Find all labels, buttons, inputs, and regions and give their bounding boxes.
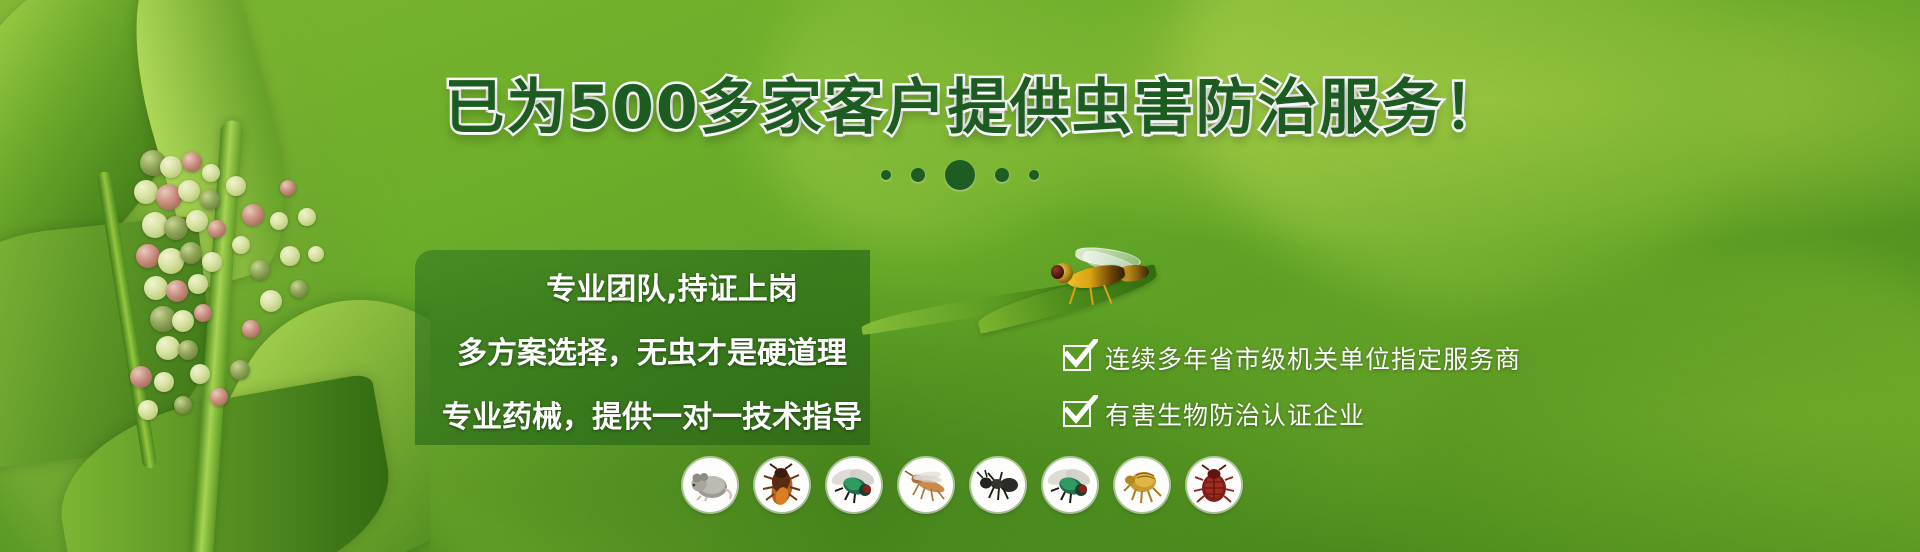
checklist-item: 有害生物防治认证企业	[1063, 386, 1521, 442]
bedbug-icon[interactable]	[1187, 458, 1241, 512]
decor-dot-medium	[995, 168, 1009, 182]
blowfly-icon[interactable]	[1043, 458, 1097, 512]
insect-leg	[1103, 285, 1112, 304]
ant-icon[interactable]	[971, 458, 1025, 512]
insect-leg	[1089, 285, 1094, 305]
feature-panel: 专业团队,持证上岗 多方案选择，无虫才是硬道理 专业药械，提供一对一技术指导	[415, 252, 895, 447]
flower-bud	[232, 236, 250, 254]
flower-bud	[136, 244, 160, 268]
flower-bud	[164, 216, 188, 240]
feature-line-3: 专业药械，提供一对一技术指导	[415, 392, 889, 436]
flower-bud	[130, 366, 152, 388]
flower-bud	[208, 220, 226, 238]
mosquito-icon[interactable]	[899, 458, 953, 512]
flower-bud	[200, 190, 220, 210]
flower-bud	[242, 320, 260, 338]
mouse-icon[interactable]	[683, 458, 737, 512]
checklist-item-label: 有害生物防治认证企业	[1105, 396, 1365, 432]
checkbox-tick-icon	[1063, 401, 1091, 427]
insect-leg	[1069, 285, 1077, 305]
fly-icon[interactable]	[827, 458, 881, 512]
flower-bud	[260, 290, 282, 312]
flower-bud	[138, 400, 158, 420]
pest-control-hero-banner: 已为500多家客户提供虫害防治服务！ 专业团队,持证上岗 多方案选择，无虫才是硬…	[0, 0, 1920, 552]
flower-bud	[308, 246, 324, 262]
decor-dot-small	[1029, 170, 1039, 180]
flower-bud	[270, 212, 288, 230]
flower-bud	[188, 274, 208, 294]
cockroach-icon[interactable]	[755, 458, 809, 512]
decor-dot-large	[945, 160, 975, 190]
flower-bud	[202, 252, 222, 272]
flower-bud	[180, 242, 202, 264]
flower-bud	[194, 304, 212, 322]
flower-bud	[242, 204, 264, 226]
banner-headline-text: 已为500多家客户提供虫害防治服务！	[444, 73, 1505, 143]
feature-line-1: 专业团队,持证上岗	[415, 264, 889, 308]
flower-bud	[172, 310, 194, 332]
certification-checklist: 连续多年省市级机关单位指定服务商 有害生物防治认证企业	[1063, 330, 1521, 442]
pest-icon-row	[683, 458, 1241, 512]
flea-icon[interactable]	[1115, 458, 1169, 512]
decorative-dot-row	[0, 160, 1920, 190]
flower-bud	[290, 280, 308, 298]
banner-headline: 已为500多家客户提供虫害防治服务！	[0, 78, 1920, 138]
checklist-item: 连续多年省市级机关单位指定服务商	[1063, 330, 1521, 386]
decor-dot-small	[881, 170, 891, 180]
flower-bud	[186, 210, 208, 232]
flower-bud	[166, 280, 188, 302]
checkbox-tick-icon	[1063, 345, 1091, 371]
flower-bud	[280, 246, 300, 266]
decor-dot-medium	[911, 168, 925, 182]
flower-bud-cluster	[130, 150, 360, 470]
flower-bud	[250, 260, 270, 280]
flower-bud	[154, 372, 174, 392]
hoverfly-icon	[1045, 247, 1165, 307]
flower-bud	[190, 364, 210, 384]
flower-bud	[144, 276, 168, 300]
flower-bud	[230, 360, 250, 380]
flower-bud	[174, 396, 192, 414]
flower-bud	[156, 336, 180, 360]
flower-bud	[178, 340, 198, 360]
feature-line-2: 多方案选择，无虫才是硬道理	[415, 328, 889, 372]
checklist-item-label: 连续多年省市级机关单位指定服务商	[1105, 340, 1521, 376]
flower-bud	[298, 208, 316, 226]
flower-bud	[210, 388, 228, 406]
insect-eye	[1051, 265, 1064, 279]
